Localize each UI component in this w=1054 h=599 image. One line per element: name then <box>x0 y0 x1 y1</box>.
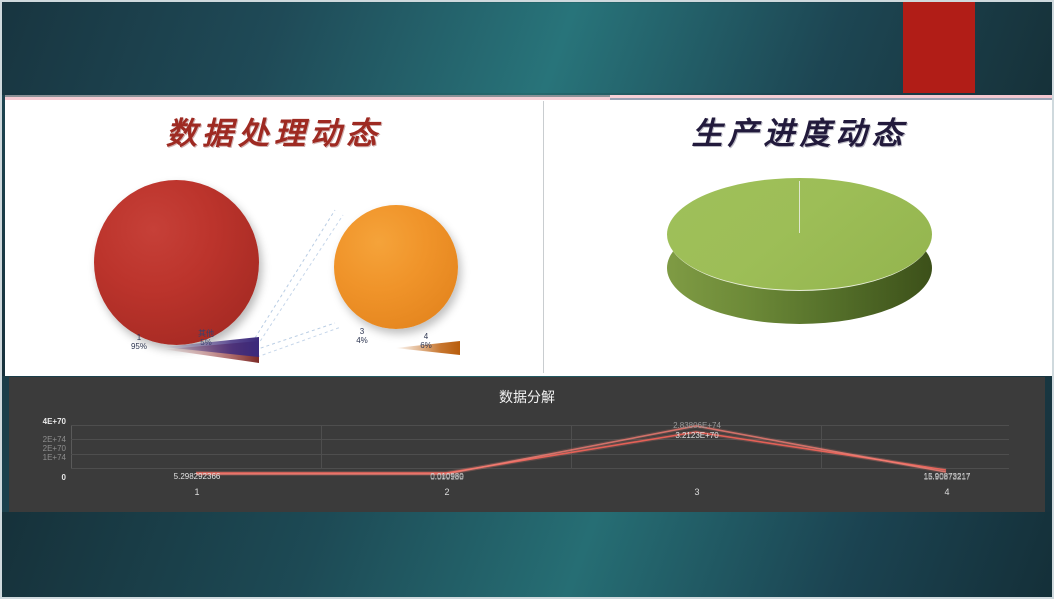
pie-connector-lines <box>5 95 543 376</box>
pie-3d-split-line <box>799 181 800 233</box>
pie-label-other: 其他 5% <box>183 329 229 347</box>
detail-pie-chart[interactable] <box>334 205 458 329</box>
data-label-s2-p2: 0.009153 <box>392 473 502 482</box>
panel-left-edge <box>0 95 5 376</box>
x-tick-label: 4 <box>927 487 967 497</box>
top-band-inner <box>3 3 1051 93</box>
left-chart-panel[interactable]: 数据处理动态 1 95% 其他 5% 3 4% <box>5 95 543 376</box>
detail-pie-label-4: 4 6% <box>409 332 443 350</box>
x-tick-label: 1 <box>177 487 217 497</box>
red-accent-band <box>903 2 975 93</box>
main-pie-chart[interactable] <box>94 180 259 345</box>
data-label-s1-p3: 3.2123E+70 <box>642 431 752 440</box>
x-tick-label: 3 <box>677 487 717 497</box>
detail-pie-label-3: 3 4% <box>345 327 379 345</box>
data-label-s2-p3: 2.83806E+74 <box>642 421 752 430</box>
top-hairline <box>0 0 1054 2</box>
chart-panel-row: 数据处理动态 1 95% 其他 5% 3 4% <box>0 95 1054 376</box>
slide-top-band <box>0 0 1054 96</box>
panel-vertical-divider <box>543 101 544 373</box>
x-tick-label: 2 <box>427 487 467 497</box>
series-2-glow <box>196 426 946 474</box>
right-panel-title: 生产进度动态 <box>545 108 1054 153</box>
presentation-slide: 数据处理动态 1 95% 其他 5% 3 4% <box>0 0 1054 599</box>
pie-label-1: 1 95% <box>113 333 165 351</box>
line-series-group <box>9 377 1045 512</box>
slide-bottom-area <box>0 512 1054 599</box>
data-label-s2-p4: 15.90873217 <box>892 473 1002 482</box>
production-pie-3d[interactable] <box>667 178 932 338</box>
bottom-chart-panel[interactable]: 数据分解 4E+70 2E+74 2E+70 1E+74 0 <box>9 377 1045 512</box>
right-chart-panel[interactable]: 生产进度动态 1234 <box>545 95 1054 376</box>
data-label-s1-p1: 5.298292366 <box>142 472 252 481</box>
